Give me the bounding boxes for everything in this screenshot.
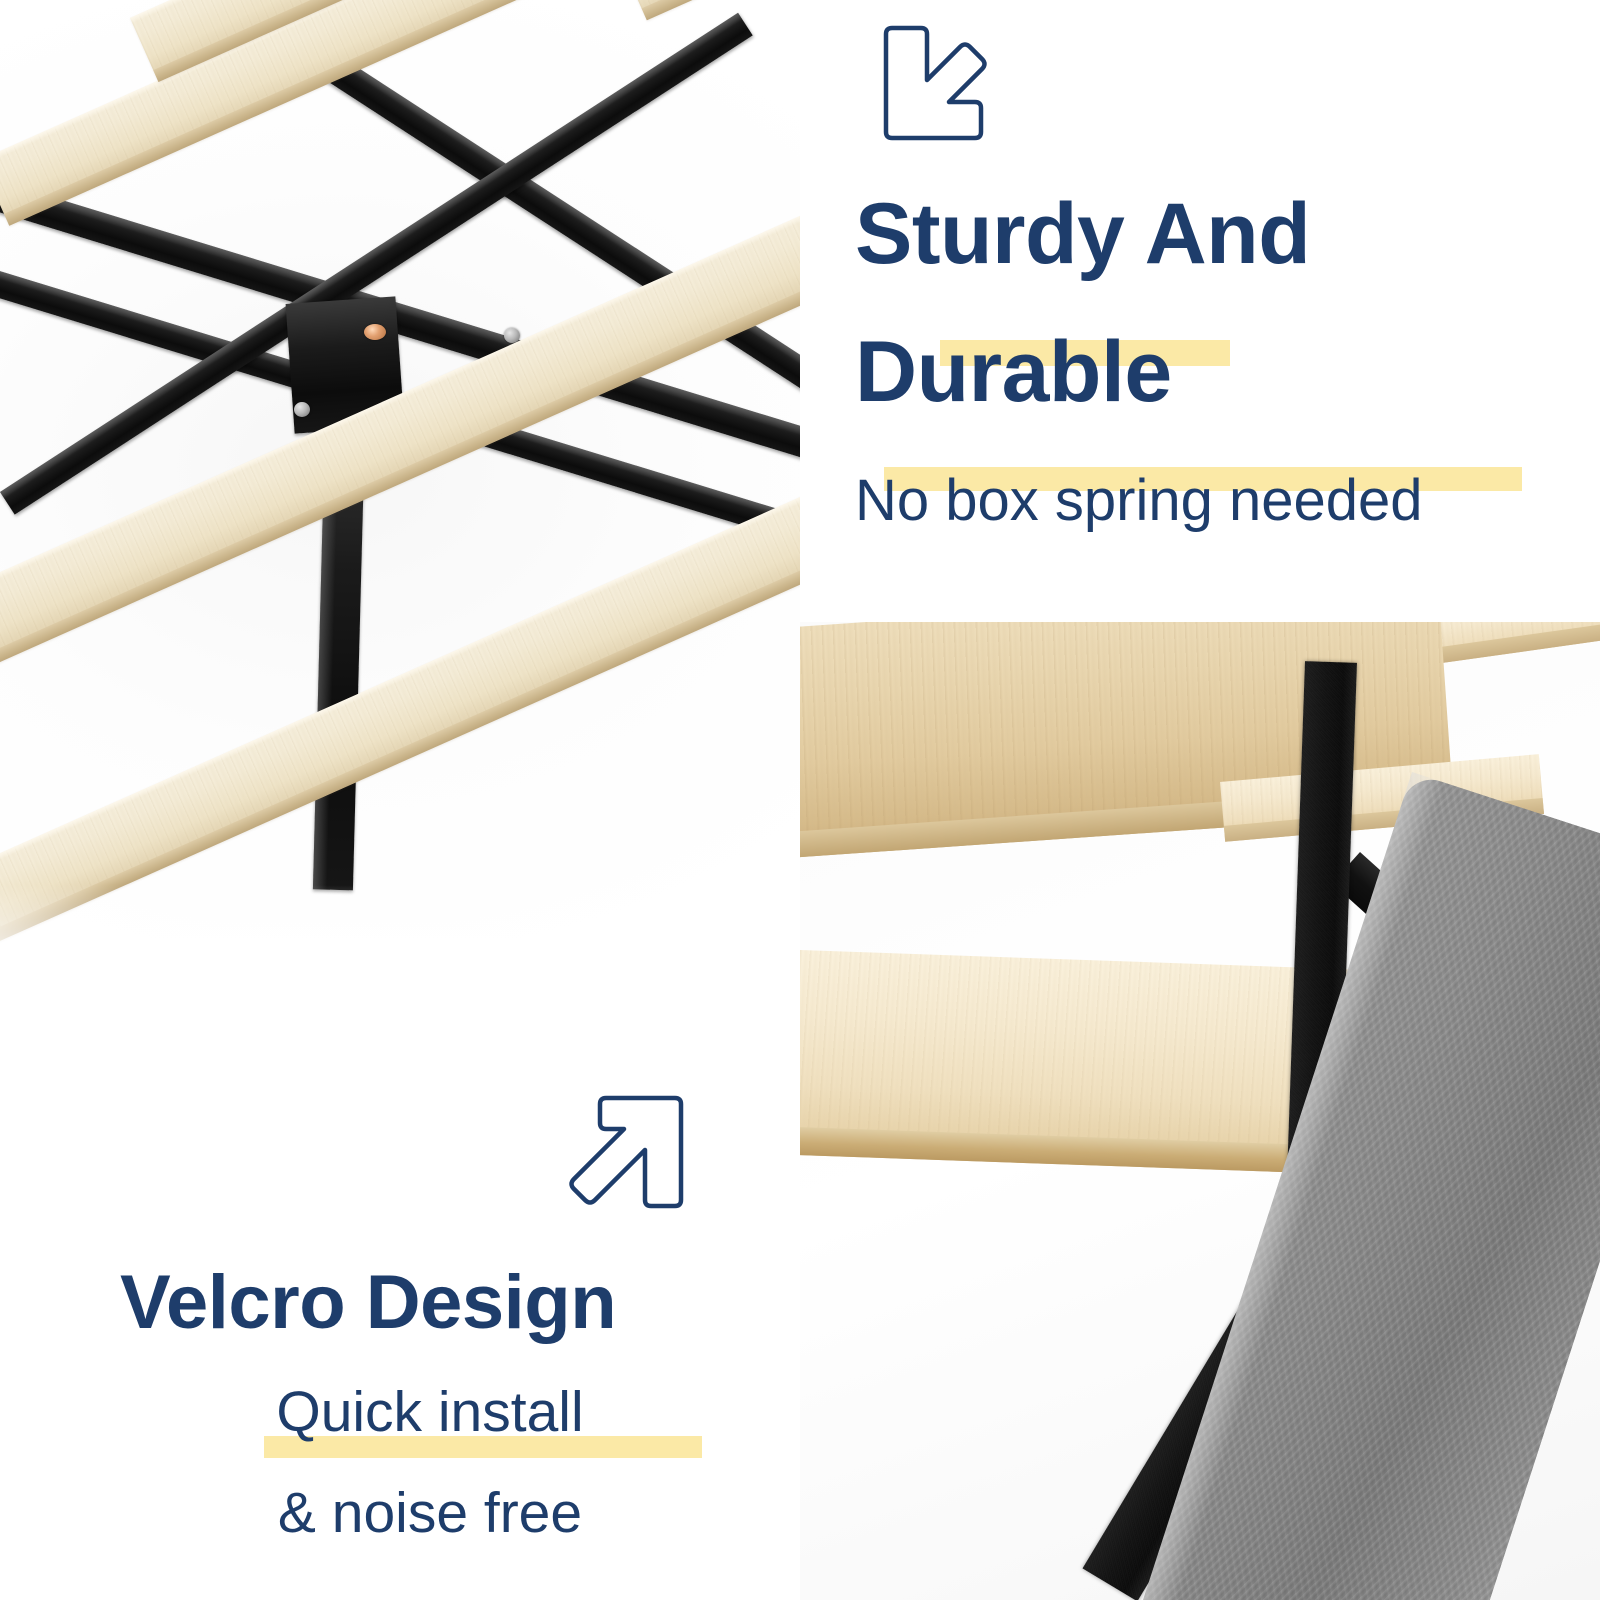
subline-quick-install: Quick install <box>120 1379 780 1446</box>
headline-velcro-design: Velcro Design <box>120 1260 780 1345</box>
arrow-up-right-icon <box>563 1092 780 1218</box>
headline-sturdy-line2: Durable <box>855 324 1575 420</box>
arrow-down-left-icon <box>859 22 1575 144</box>
bed-frame-photo <box>0 0 800 975</box>
product-infographic: Sturdy And Durable No box spring needed … <box>0 0 1600 1600</box>
feature-block-sturdy: Sturdy And Durable No box spring needed <box>855 22 1575 535</box>
subline-noise-free: & noise free <box>120 1480 780 1547</box>
subline-no-box-spring: No box spring needed <box>855 467 1575 535</box>
headline-sturdy-line1: Sturdy And <box>855 186 1575 282</box>
velcro-detail-photo <box>800 622 1600 1600</box>
screw-lower-left <box>294 402 310 417</box>
copper-screw <box>364 324 386 340</box>
feature-block-velcro: Velcro Design Quick install & noise free <box>120 1092 780 1548</box>
photo-bottom-fade <box>0 885 800 975</box>
